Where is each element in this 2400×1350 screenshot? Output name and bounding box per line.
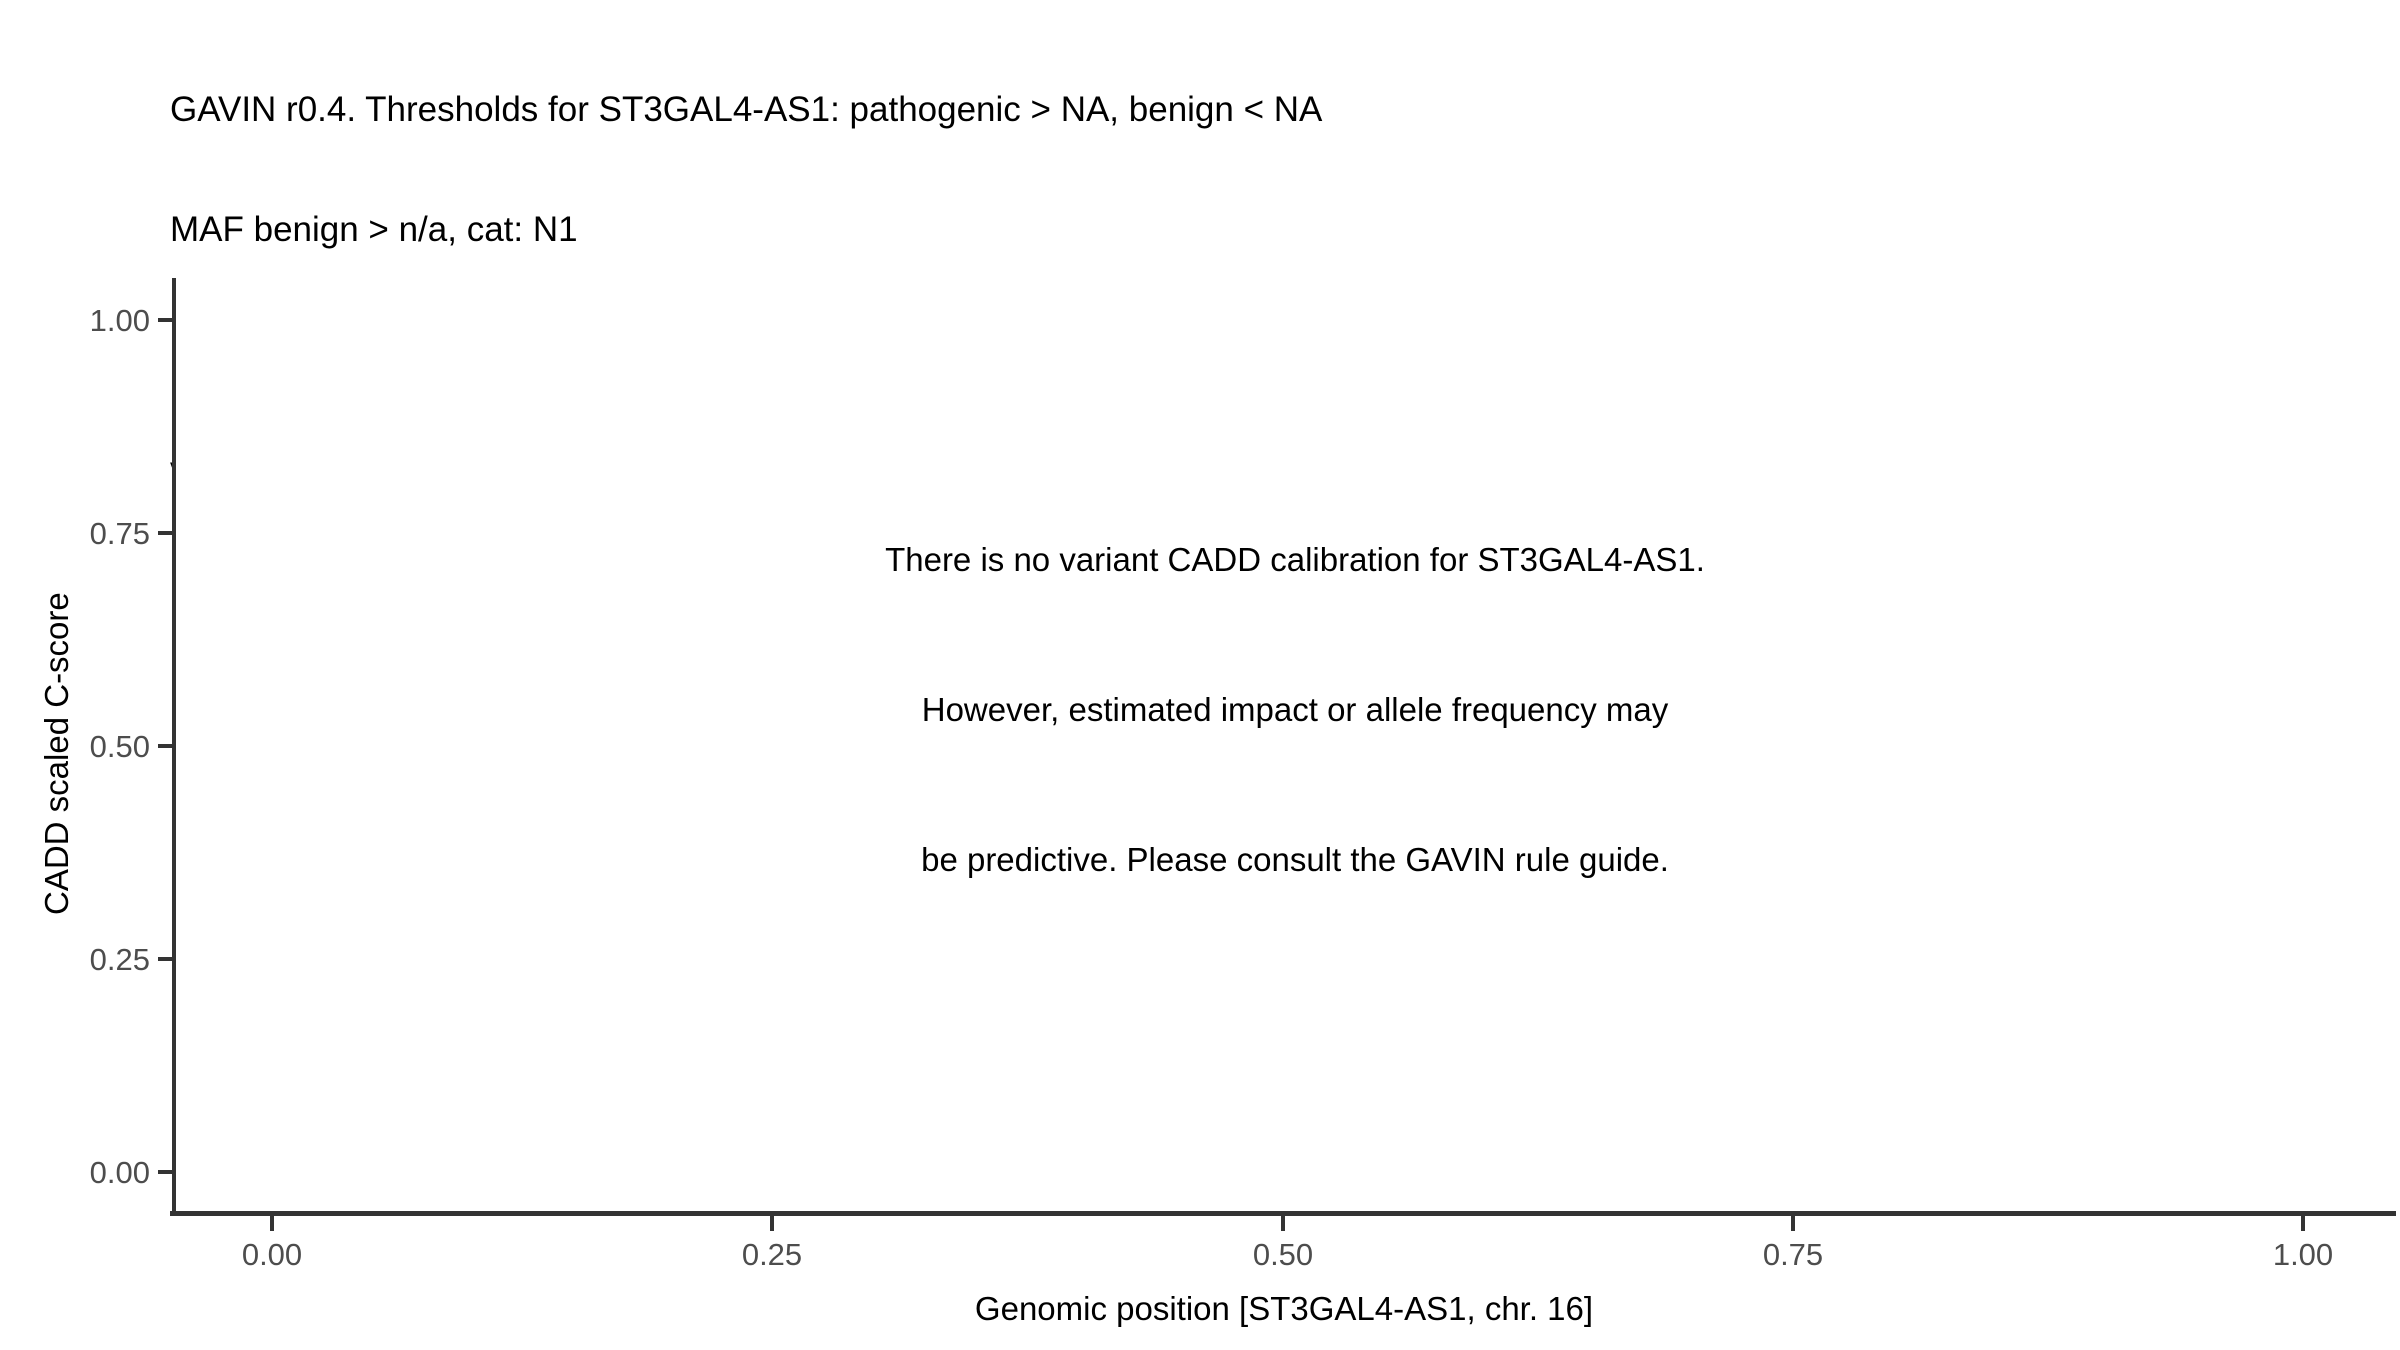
y-axis-line bbox=[172, 278, 176, 1215]
y-tick-label-0.00: 0.00 bbox=[0, 1157, 150, 1188]
x-tick-mark-0.50 bbox=[1281, 1216, 1285, 1231]
x-tick-label-0.00: 0.00 bbox=[172, 1238, 372, 1272]
panel-annotation-line-3: be predictive. Please consult the GAVIN … bbox=[295, 835, 2295, 885]
y-tick-label-0.75: 0.75 bbox=[0, 518, 150, 549]
x-tick-label-0.50: 0.50 bbox=[1183, 1238, 1383, 1272]
x-tick-label-1.00: 1.00 bbox=[2203, 1238, 2400, 1272]
plot-canvas: GAVIN r0.4. Thresholds for ST3GAL4-AS1: … bbox=[0, 0, 2400, 1350]
panel-annotation-line-1: There is no variant CADD calibration for… bbox=[295, 535, 2295, 585]
y-tick-label-1.00: 1.00 bbox=[0, 305, 150, 336]
x-tick-mark-0.75 bbox=[1791, 1216, 1795, 1231]
x-tick-mark-0.00 bbox=[270, 1216, 274, 1231]
x-tick-label-0.25: 0.25 bbox=[672, 1238, 872, 1272]
y-tick-label-0.25: 0.25 bbox=[0, 944, 150, 975]
y-tick-mark-0.00 bbox=[158, 1170, 172, 1174]
x-tick-label-0.75: 0.75 bbox=[1693, 1238, 1893, 1272]
panel-annotation: There is no variant CADD calibration for… bbox=[295, 435, 2295, 985]
y-tick-mark-0.75 bbox=[158, 531, 172, 535]
plot-title-line-1: GAVIN r0.4. Thresholds for ST3GAL4-AS1: … bbox=[170, 90, 2270, 130]
panel-annotation-line-2: However, estimated impact or allele freq… bbox=[295, 685, 2295, 735]
plot-title-line-2: MAF benign > n/a, cat: N1 bbox=[170, 210, 2270, 250]
y-tick-mark-0.25 bbox=[158, 957, 172, 961]
y-tick-label-0.50: 0.50 bbox=[0, 731, 150, 762]
x-axis-title: Genomic position [ST3GAL4-AS1, chr. 16] bbox=[172, 1290, 2396, 1328]
x-tick-mark-0.25 bbox=[770, 1216, 774, 1231]
y-tick-mark-1.00 bbox=[158, 318, 172, 322]
x-tick-mark-1.00 bbox=[2301, 1216, 2305, 1231]
y-tick-mark-0.50 bbox=[158, 744, 172, 748]
